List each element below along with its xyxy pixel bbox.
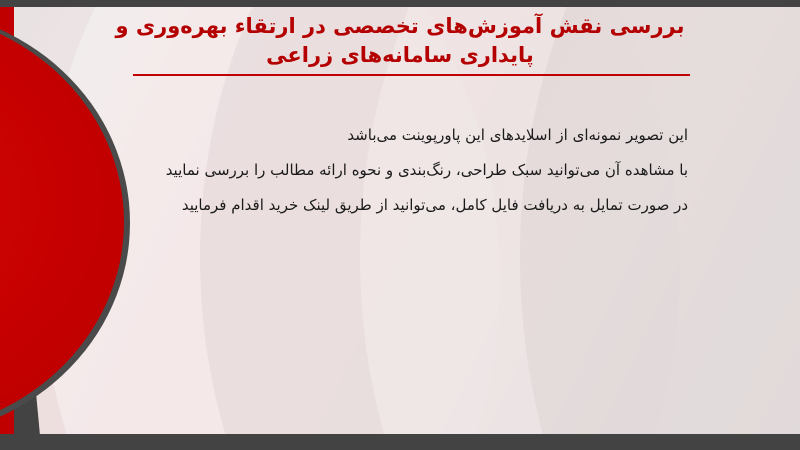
slide-bottom-frame	[0, 434, 800, 450]
slide-title: بررسی نقش آموزش‌های تخصصی در ارتقاء بهره…	[0, 12, 800, 70]
slide-title-line-1: بررسی نقش آموزش‌های تخصصی در ارتقاء بهره…	[0, 12, 800, 41]
slide-body-text: این تصویر نمونه‌ای از اسلایدهای این پاور…	[108, 118, 688, 223]
slide-title-line-2: پایداری سامانه‌های زراعی	[0, 41, 800, 70]
body-line-1: این تصویر نمونه‌ای از اسلایدهای این پاور…	[108, 118, 688, 153]
body-line-3: در صورت تمایل به دریافت فایل کامل، می‌تو…	[108, 188, 688, 223]
presentation-slide: بررسی نقش آموزش‌های تخصصی در ارتقاء بهره…	[0, 0, 800, 450]
body-line-2: با مشاهده آن می‌توانید سبک طراحی، رنگ‌بن…	[108, 153, 688, 188]
title-divider-rule	[133, 74, 690, 76]
